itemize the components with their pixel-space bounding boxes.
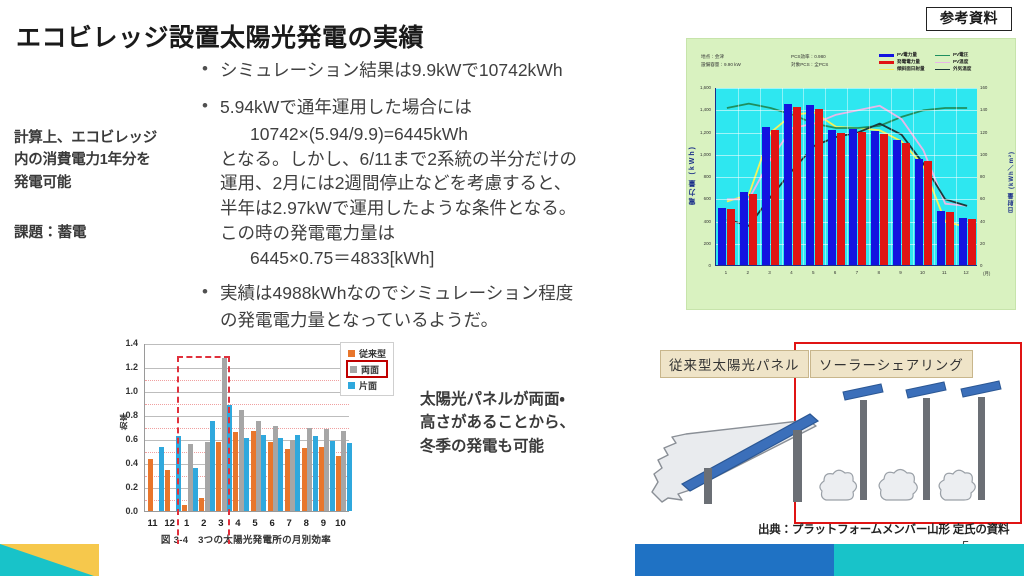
y-axis-tick: 600 bbox=[689, 196, 711, 201]
bar-generated-power bbox=[902, 143, 910, 265]
bar-pv-power bbox=[762, 127, 770, 265]
bullet-item: 5.94kWで通年運用した場合には bbox=[198, 95, 678, 120]
bar-両面 bbox=[341, 431, 346, 511]
footer-bar bbox=[0, 544, 1024, 576]
x-axis-tick: 10 bbox=[915, 270, 929, 275]
bar-従来型 bbox=[285, 449, 290, 511]
y-axis-tick: 0 bbox=[689, 263, 711, 268]
y-axis-tick-right: 140 bbox=[980, 107, 996, 112]
bar-従来型 bbox=[302, 448, 307, 511]
bar-従来型 bbox=[165, 470, 170, 511]
y-axis-tick-right: 60 bbox=[980, 196, 996, 201]
annotation-text: 太陽光パネルが両面・ 高さがあることから、 冬季の発電も可能 bbox=[420, 388, 620, 458]
bar-pv-power bbox=[959, 218, 967, 265]
bar-従来型 bbox=[336, 456, 341, 511]
gridline-vertical bbox=[956, 88, 957, 265]
legend-swatch bbox=[879, 69, 894, 71]
gridline bbox=[145, 392, 349, 393]
bullet-list: シミュレーション結果は9.9kWで10742kWh 5.94kWで通年運用した場… bbox=[198, 58, 678, 332]
bar-両面 bbox=[307, 428, 312, 511]
left-note-line-2: 内の消費電力1年分を bbox=[14, 149, 194, 171]
bullet-item: 実績は4988kWhなのでシミュレーション程度 bbox=[198, 281, 678, 306]
legend-item: 従来型 bbox=[346, 346, 388, 360]
gridline-vertical bbox=[803, 88, 804, 265]
gridline-minor bbox=[145, 428, 349, 430]
bar-pv-power bbox=[784, 104, 792, 265]
bar-generated-power bbox=[793, 107, 801, 265]
legend-label: 両面 bbox=[361, 363, 379, 376]
legend-swatch bbox=[935, 69, 950, 71]
legend-swatch bbox=[935, 55, 950, 57]
gridline-vertical bbox=[782, 88, 783, 265]
y-axis-tick: 800 bbox=[689, 174, 711, 179]
plot-area bbox=[715, 88, 977, 266]
bar-generated-power bbox=[858, 132, 866, 266]
body-line: 運用、2月には2週間停止などを考慮すると、 bbox=[198, 171, 678, 196]
legend-label: 片面 bbox=[359, 379, 377, 392]
y-axis-tick-right: 20 bbox=[980, 241, 996, 246]
y-axis-tick: 0.0 bbox=[108, 506, 138, 516]
bullet-item: シミュレーション結果は9.9kWで10742kWh bbox=[198, 58, 678, 83]
y-axis-tick: 1,600 bbox=[689, 85, 711, 90]
gridline bbox=[145, 416, 349, 417]
location-label: 地点：会津 bbox=[701, 53, 741, 61]
bar-片面 bbox=[244, 438, 249, 511]
bar-両面 bbox=[324, 429, 329, 511]
left-note: 計算上、エコビレッジ 内の消費電力1年分を 発電可能 bbox=[14, 127, 194, 194]
bar-両面 bbox=[273, 426, 278, 511]
annotation-line-2: 高さがあることから、 bbox=[420, 411, 620, 434]
chart-header: 地点：会津 設備容量：9.90 kW PCS効率：0.980 対象PCS：全PC… bbox=[687, 44, 1015, 82]
y-axis-tick-right: 160 bbox=[980, 85, 996, 90]
bar-pv-power bbox=[740, 192, 748, 265]
x-axis-tick: 11 bbox=[144, 518, 162, 529]
bar-generated-power bbox=[968, 219, 976, 266]
legend-item: 傾斜面日射量 bbox=[879, 66, 925, 73]
x-axis-tick: 4 bbox=[784, 270, 798, 275]
bar-片面 bbox=[159, 447, 164, 511]
source-attribution: 出典：プラットフォームメンバー山形 定氏の資料 bbox=[758, 521, 1009, 537]
pcs-efficiency-label: PCS効率：0.980 bbox=[791, 53, 828, 61]
gridline-vertical bbox=[738, 88, 739, 265]
gridline-vertical bbox=[891, 88, 892, 265]
bar-従来型 bbox=[319, 447, 324, 511]
x-axis-unit: (月) bbox=[983, 271, 990, 277]
bar-両面 bbox=[256, 421, 261, 511]
efficiency-plot-area bbox=[144, 344, 349, 512]
y-axis-tick: 400 bbox=[689, 219, 711, 224]
bar-両面 bbox=[290, 440, 295, 511]
left-note-line-1: 計算上、エコビレッジ bbox=[14, 127, 194, 149]
x-axis-tick: 8 bbox=[297, 518, 315, 529]
legend-swatch bbox=[348, 382, 355, 389]
chart-meta-pcs: PCS効率：0.980 対象PCS：全PCS bbox=[791, 53, 828, 69]
y-axis-tick-right: 0 bbox=[980, 263, 996, 268]
bar-generated-power bbox=[924, 161, 932, 265]
y-axis-label-right: 日射量 (kWh／m²) bbox=[1007, 151, 1016, 213]
y-axis-tick-right: 40 bbox=[980, 219, 996, 224]
x-axis-tick: 6 bbox=[828, 270, 842, 275]
formula-line: 6445×0.75＝4833[kWh] bbox=[198, 246, 678, 271]
slide-root: 参考資料 エコビレッジ設置太陽光発電の実績 計算上、エコビレッジ 内の消費電力1… bbox=[0, 0, 1024, 576]
legend-swatch bbox=[879, 54, 894, 57]
legend-swatch bbox=[935, 62, 950, 64]
gridline-vertical bbox=[825, 88, 826, 265]
bar-従来型 bbox=[251, 431, 256, 511]
capacity-label: 設備容量：9.90 kW bbox=[701, 61, 741, 69]
reference-badge: 参考資料 bbox=[926, 7, 1012, 31]
annotation-line-1: 太陽光パネルが両面・ bbox=[420, 388, 620, 411]
y-axis-tick: 0.2 bbox=[108, 482, 138, 492]
bar-generated-power bbox=[815, 109, 823, 265]
bar-片面 bbox=[347, 443, 352, 511]
gridline-minor bbox=[145, 404, 349, 406]
x-axis-tick: 1 bbox=[719, 270, 733, 275]
bar-片面 bbox=[278, 438, 283, 511]
x-axis-tick: 8 bbox=[872, 270, 886, 275]
gridline-vertical bbox=[913, 88, 914, 265]
bar-generated-power bbox=[837, 133, 845, 265]
gridline bbox=[145, 368, 349, 369]
y-axis-tick: 0.6 bbox=[108, 434, 138, 444]
diagram-illustration bbox=[648, 342, 1024, 542]
x-axis-tick: 4 bbox=[229, 518, 247, 529]
footer-blue-band bbox=[635, 544, 834, 576]
left-note-line-3: 発電可能 bbox=[14, 172, 194, 194]
bar-片面 bbox=[261, 435, 266, 511]
x-axis-tick: 3 bbox=[763, 270, 777, 275]
annotation-line-3: 冬季の発電も可能 bbox=[420, 435, 620, 458]
y-axis-tick: 1.4 bbox=[108, 338, 138, 348]
left-note-issue: 課題：蓄電 bbox=[14, 222, 194, 244]
bar-従来型 bbox=[268, 442, 273, 511]
legend-swatch bbox=[879, 61, 894, 64]
y-axis-tick: 1,200 bbox=[689, 130, 711, 135]
body-line: 半年は2.97kWで運用したような条件となる。 bbox=[198, 196, 678, 221]
legend-label: 外気温度 bbox=[953, 65, 971, 74]
formula-line: 10742×(5.94/9.9)=6445kWh bbox=[198, 122, 678, 147]
x-axis-tick: 9 bbox=[314, 518, 332, 529]
y-axis-tick: 0.4 bbox=[108, 458, 138, 468]
y-axis-tick-right: 100 bbox=[980, 152, 996, 157]
x-axis-tick: 7 bbox=[280, 518, 298, 529]
chart-legend-left: PV電力量発電電力量傾斜面日射量 bbox=[879, 52, 925, 73]
bar-従来型 bbox=[233, 432, 238, 511]
footer-teal-triangle bbox=[0, 544, 94, 576]
bar-generated-power bbox=[771, 130, 779, 265]
bar-pv-power bbox=[915, 159, 923, 265]
body-line: の発電電力量となっているようだ。 bbox=[198, 308, 678, 333]
bar-generated-power bbox=[749, 194, 757, 265]
x-axis-tick: 10 bbox=[331, 518, 349, 529]
x-axis-tick: 7 bbox=[850, 270, 864, 275]
body-line: この時の発電電力量は bbox=[198, 221, 678, 246]
bar-pv-power bbox=[806, 105, 814, 265]
y-axis-tick: 0.8 bbox=[108, 410, 138, 420]
bar-generated-power bbox=[727, 209, 735, 265]
bar-generated-power bbox=[946, 212, 954, 265]
gridline bbox=[145, 344, 349, 345]
y-axis-tick: 200 bbox=[689, 241, 711, 246]
y-axis-tick: 1,000 bbox=[689, 152, 711, 157]
bar-pv-power bbox=[718, 208, 726, 265]
page-title: エコビレッジ設置太陽光発電の実績 bbox=[16, 18, 424, 54]
x-axis-tick: 12 bbox=[959, 270, 973, 275]
bar-pv-power bbox=[937, 211, 945, 266]
gridline-vertical bbox=[760, 88, 761, 265]
legend-swatch bbox=[348, 350, 355, 357]
bar-pv-power bbox=[893, 140, 901, 265]
legend-item: 外気温度 bbox=[935, 66, 971, 73]
chart-legend-right: PV電圧PV温度外気温度 bbox=[935, 52, 971, 73]
bar-片面 bbox=[313, 436, 318, 511]
x-axis-tick: 12 bbox=[161, 518, 179, 529]
x-axis-tick: 5 bbox=[806, 270, 820, 275]
x-axis-tick: 9 bbox=[894, 270, 908, 275]
x-axis-tick: 5 bbox=[246, 518, 264, 529]
bar-片面 bbox=[295, 435, 300, 511]
efficiency-legend: 従来型両面片面 bbox=[340, 342, 394, 396]
legend-label: 傾斜面日射量 bbox=[897, 65, 925, 74]
monthly-generation-chart: 地点：会津 設備容量：9.90 kW PCS効率：0.980 対象PCS：全PC… bbox=[686, 38, 1016, 310]
y-axis-tick: 1,400 bbox=[689, 107, 711, 112]
highlight-box-winter-months bbox=[177, 356, 230, 566]
target-pcs-label: 対象PCS：全PCS bbox=[791, 61, 828, 69]
legend-swatch bbox=[350, 366, 357, 373]
gridline-vertical bbox=[934, 88, 935, 265]
bar-pv-power bbox=[871, 131, 879, 265]
bar-generated-power bbox=[880, 134, 888, 265]
bar-pv-power bbox=[828, 130, 836, 265]
bar-pv-power bbox=[849, 129, 857, 265]
y-axis-tick-right: 80 bbox=[980, 174, 996, 179]
spacer bbox=[198, 85, 678, 95]
legend-label: 従来型 bbox=[359, 347, 386, 360]
gridline-vertical bbox=[847, 88, 848, 265]
y-axis-tick-right: 120 bbox=[980, 130, 996, 135]
chart-plot-wrap: 電力量 (kWh) 日射量 (kWh／m²) (月) 0020020400406… bbox=[687, 85, 1017, 285]
spacer bbox=[198, 271, 678, 281]
bar-片面 bbox=[330, 441, 335, 511]
body-line: となる。しかし、6/11まで2系統の半分だけの bbox=[198, 147, 678, 172]
gridline-vertical bbox=[869, 88, 870, 265]
x-axis-tick: 6 bbox=[263, 518, 281, 529]
legend-item: 両面 bbox=[346, 360, 388, 378]
x-axis-tick: 2 bbox=[741, 270, 755, 275]
y-axis-tick: 1.0 bbox=[108, 386, 138, 396]
footer-white-band bbox=[99, 544, 635, 576]
monthly-efficiency-chart: 効率 従来型両面片面 図 3-4 3つの太陽光発電所の月別効率 0.00.20.… bbox=[96, 334, 396, 556]
y-axis-tick: 1.2 bbox=[108, 362, 138, 372]
footer-teal-band bbox=[834, 544, 1024, 576]
x-axis-tick: 11 bbox=[937, 270, 951, 275]
panel-comparison-diagram: 従来型太陽光パネル ソーラーシェアリング bbox=[648, 342, 1024, 542]
chart-meta-location: 地点：会津 設備容量：9.90 kW bbox=[701, 53, 741, 69]
bar-従来型 bbox=[148, 459, 153, 511]
gridline-minor bbox=[145, 380, 349, 382]
legend-item: 片面 bbox=[346, 378, 388, 392]
bar-両面 bbox=[239, 410, 244, 511]
